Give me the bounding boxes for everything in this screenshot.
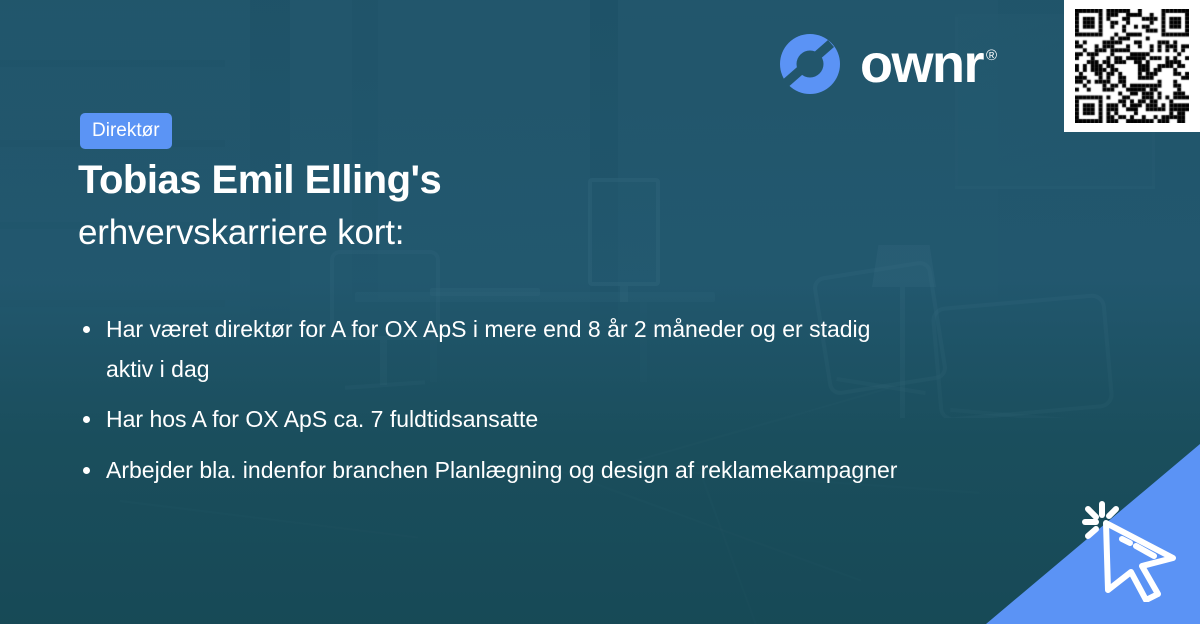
list-item: Har hos A for OX ApS ca. 7 fuldtidsansat… bbox=[78, 400, 918, 440]
list-item-label: Har hos A for OX ApS ca. 7 fuldtidsansat… bbox=[106, 406, 538, 432]
list-item-label: Har været direktør for A for OX ApS i me… bbox=[106, 316, 870, 382]
bullet-dot-icon bbox=[83, 467, 90, 474]
list-item: Arbejder bla. indenfor branchen Planlægn… bbox=[78, 451, 918, 491]
career-highlights-list: Har været direktør for A for OX ApS i me… bbox=[78, 310, 918, 501]
list-item: Har været direktør for A for OX ApS i me… bbox=[78, 310, 918, 389]
qr-code[interactable] bbox=[1075, 9, 1189, 123]
bullet-dot-icon bbox=[83, 326, 90, 333]
role-badge: Direktør bbox=[80, 113, 172, 149]
page-subtitle: erhvervskarriere kort: bbox=[78, 212, 404, 254]
qr-code-panel[interactable] bbox=[1064, 0, 1200, 132]
ownr-logo: ownr® bbox=[778, 32, 993, 96]
bullet-dot-icon bbox=[83, 416, 90, 423]
ownr-wordmark-text: ownr bbox=[860, 34, 983, 94]
business-career-card: ownr® Direktør Tobias Emil Elling's erhv… bbox=[0, 0, 1200, 624]
list-item-label: Arbejder bla. indenfor branchen Planlægn… bbox=[106, 457, 897, 483]
ownr-wordmark: ownr® bbox=[860, 37, 993, 91]
page-title: Tobias Emil Elling's bbox=[78, 157, 441, 204]
ownr-circle-swoosh-icon bbox=[778, 32, 842, 96]
mouse-cursor-click-icon bbox=[1078, 498, 1182, 602]
registered-trademark-icon: ® bbox=[986, 47, 996, 64]
